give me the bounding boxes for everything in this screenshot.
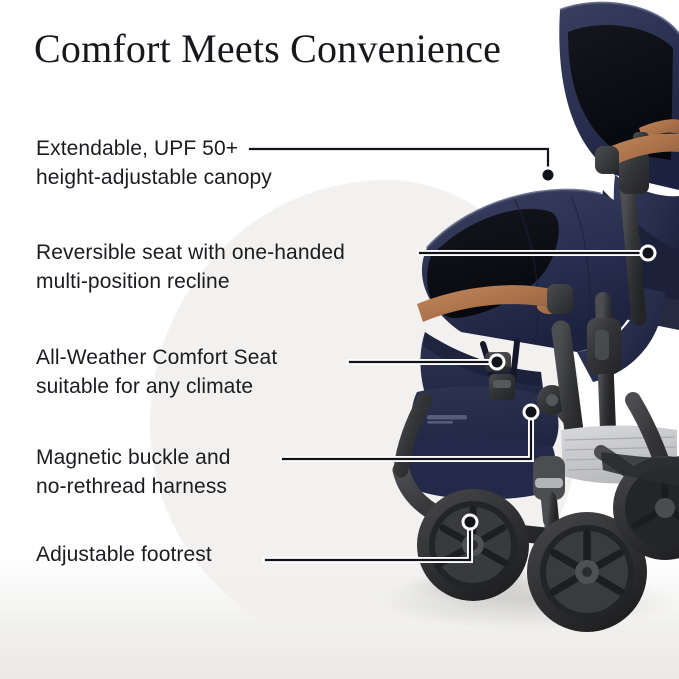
callout-all-weather-seat-label: All-Weather Comfort Seat suitable for an… xyxy=(36,343,277,401)
callout-canopy-label: Extendable, UPF 50+ height-adjustable ca… xyxy=(36,134,272,192)
callout-magnetic-buckle-label: Magnetic buckle and no-rethread harness xyxy=(36,443,231,501)
page-title: Comfort Meets Convenience xyxy=(34,24,501,74)
callout-footrest-label: Adjustable footrest xyxy=(36,540,212,569)
infographic-canvas: Comfort Meets Convenience xyxy=(0,0,679,679)
callout-reversible-seat-label: Reversible seat with one-handed multi-po… xyxy=(36,238,345,296)
handlebar-overlay xyxy=(365,0,679,679)
